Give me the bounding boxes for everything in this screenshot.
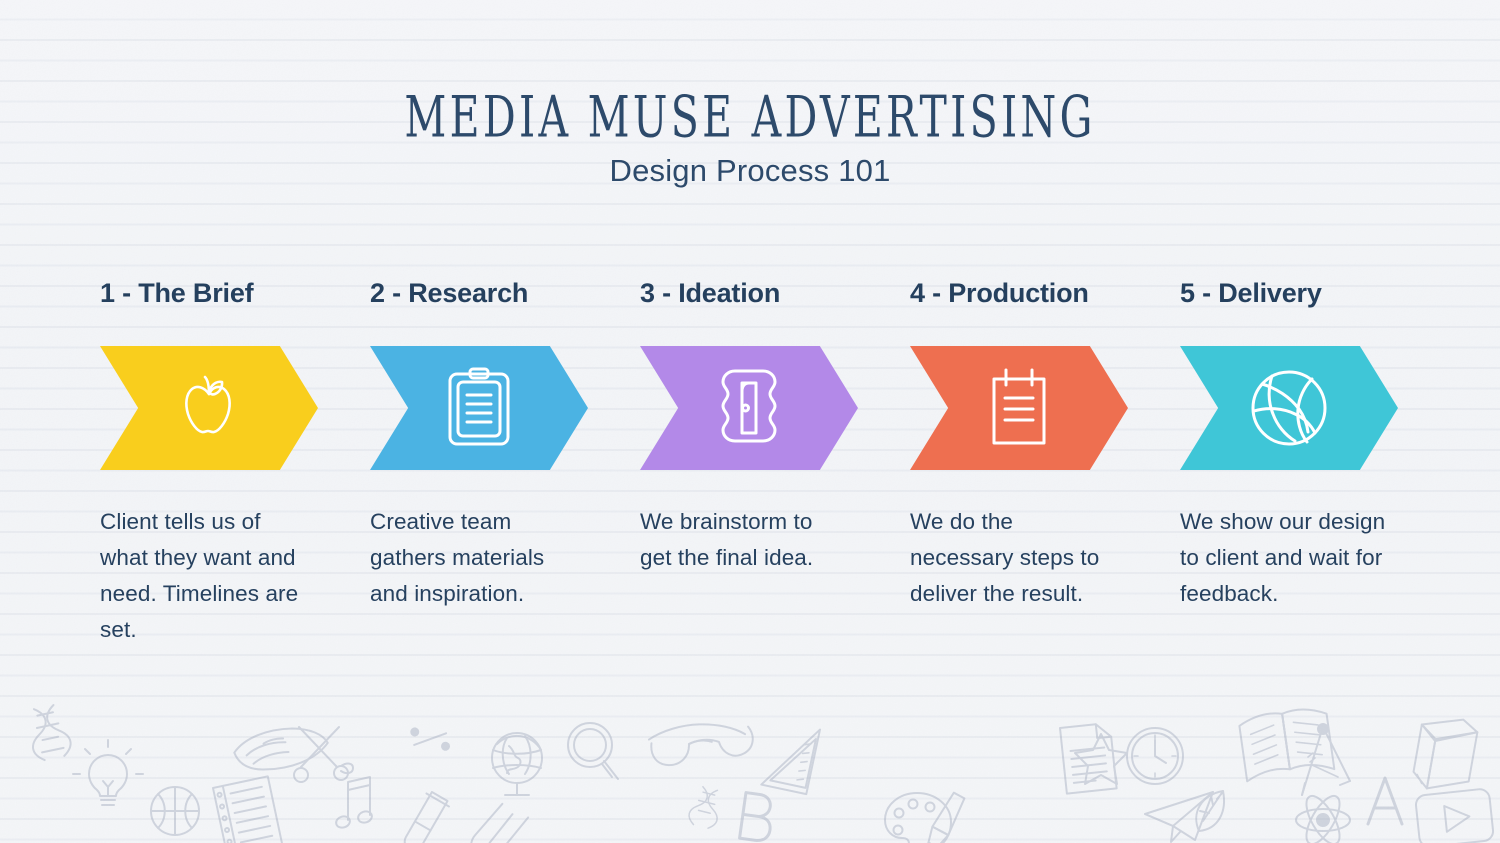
basketball-icon	[1180, 346, 1398, 470]
step-5-delivery: 5 - Delivery We show our design to clien…	[1180, 278, 1448, 612]
page-subtitle: Design Process 101	[0, 153, 1500, 189]
step-2-research: 2 - Research Creative team gathers mater…	[370, 278, 638, 612]
step-1-the-brief: 1 - The Brief Client tells us of what th…	[100, 278, 368, 648]
step-4-title: 4 - Production	[910, 278, 1178, 318]
step-1-arrow	[100, 346, 318, 470]
process-steps: 1 - The Brief Client tells us of what th…	[100, 278, 1420, 708]
slide-canvas: MEDIA MUSE ADVERTISING Design Process 10…	[0, 0, 1500, 843]
step-4-description: We do the necessary steps to deliver the…	[910, 504, 1122, 612]
clipboard-icon	[370, 346, 588, 470]
step-1-description: Client tells us of what they want and ne…	[100, 504, 305, 648]
step-2-title: 2 - Research	[370, 278, 638, 318]
pencil-sharpener-icon	[640, 346, 858, 470]
slide-header: MEDIA MUSE ADVERTISING Design Process 10…	[0, 88, 1500, 189]
step-3-title: 3 - Ideation	[640, 278, 908, 318]
step-5-arrow	[1180, 346, 1398, 470]
step-3-ideation: 3 - Ideation We brainstorm to get the fi…	[640, 278, 908, 576]
step-1-title: 1 - The Brief	[100, 278, 368, 318]
step-5-title: 5 - Delivery	[1180, 278, 1448, 318]
step-2-arrow	[370, 346, 588, 470]
step-3-description: We brainstorm to get the final idea.	[640, 504, 845, 576]
notepad-icon	[910, 346, 1128, 470]
step-5-description: We show our design to client and wait fo…	[1180, 504, 1392, 612]
page-title: MEDIA MUSE ADVERTISING	[135, 88, 1365, 147]
step-4-arrow	[910, 346, 1128, 470]
step-4-production: 4 - Production We do the necessary steps…	[910, 278, 1178, 612]
step-2-description: Creative team gathers materials and insp…	[370, 504, 575, 612]
step-3-arrow	[640, 346, 858, 470]
apple-icon	[100, 346, 318, 470]
